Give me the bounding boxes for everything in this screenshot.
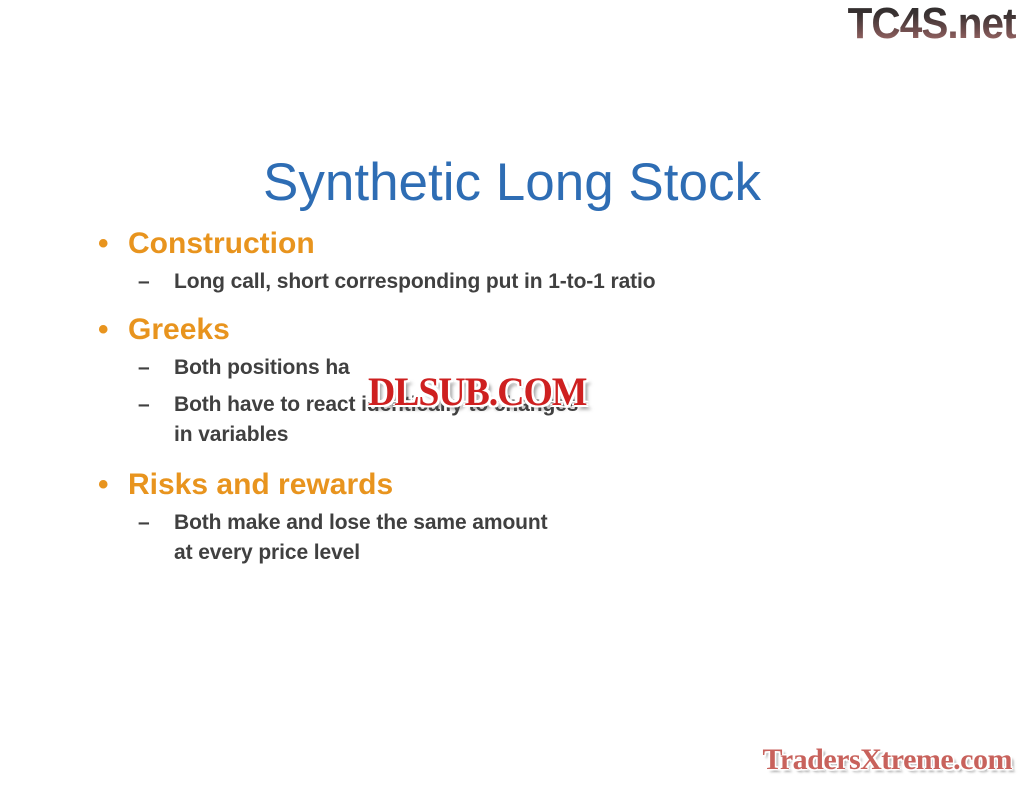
sub-bullet-text: Both positions ha (174, 356, 350, 379)
dash-icon: – (138, 353, 150, 383)
dlsub-watermark: DLSUB.COM (368, 368, 586, 415)
dash-icon: – (138, 508, 150, 538)
dash-icon: – (138, 390, 150, 420)
page-title: Synthetic Long Stock (0, 154, 1024, 212)
sub-bullet-text: Both make and lose the same amount at ev… (174, 511, 548, 564)
bullet-risks-and-rewards: • Risks and rewards (90, 467, 890, 502)
brand-logo: TC4S.net (848, 2, 1016, 46)
bullet-construction-label: Construction (128, 227, 315, 260)
sub-bullet-text: Long call, short corresponding put in 1-… (174, 270, 656, 293)
sub-bullet-risks-1: – Both make and lose the same amount at … (90, 508, 890, 569)
bullet-dot-icon: • (98, 312, 109, 347)
outline-group-construction: • Construction – Long call, short corres… (90, 226, 890, 298)
bullet-greeks: • Greeks (90, 312, 890, 347)
dash-icon: – (138, 267, 150, 297)
bullet-greeks-label: Greeks (128, 313, 230, 346)
slide-canvas: TC4S.net Synthetic Long Stock • Construc… (0, 0, 1024, 791)
tradersxtreme-watermark: TradersXtreme.com (763, 743, 1012, 777)
bullet-dot-icon: • (98, 226, 109, 261)
sub-bullet-construction-1: – Long call, short corresponding put in … (90, 267, 890, 297)
bullet-dot-icon: • (98, 467, 109, 502)
bullet-construction: • Construction (90, 226, 890, 261)
bullet-risks-label: Risks and rewards (128, 468, 393, 501)
outline-group-risks: • Risks and rewards – Both make and lose… (90, 467, 890, 569)
